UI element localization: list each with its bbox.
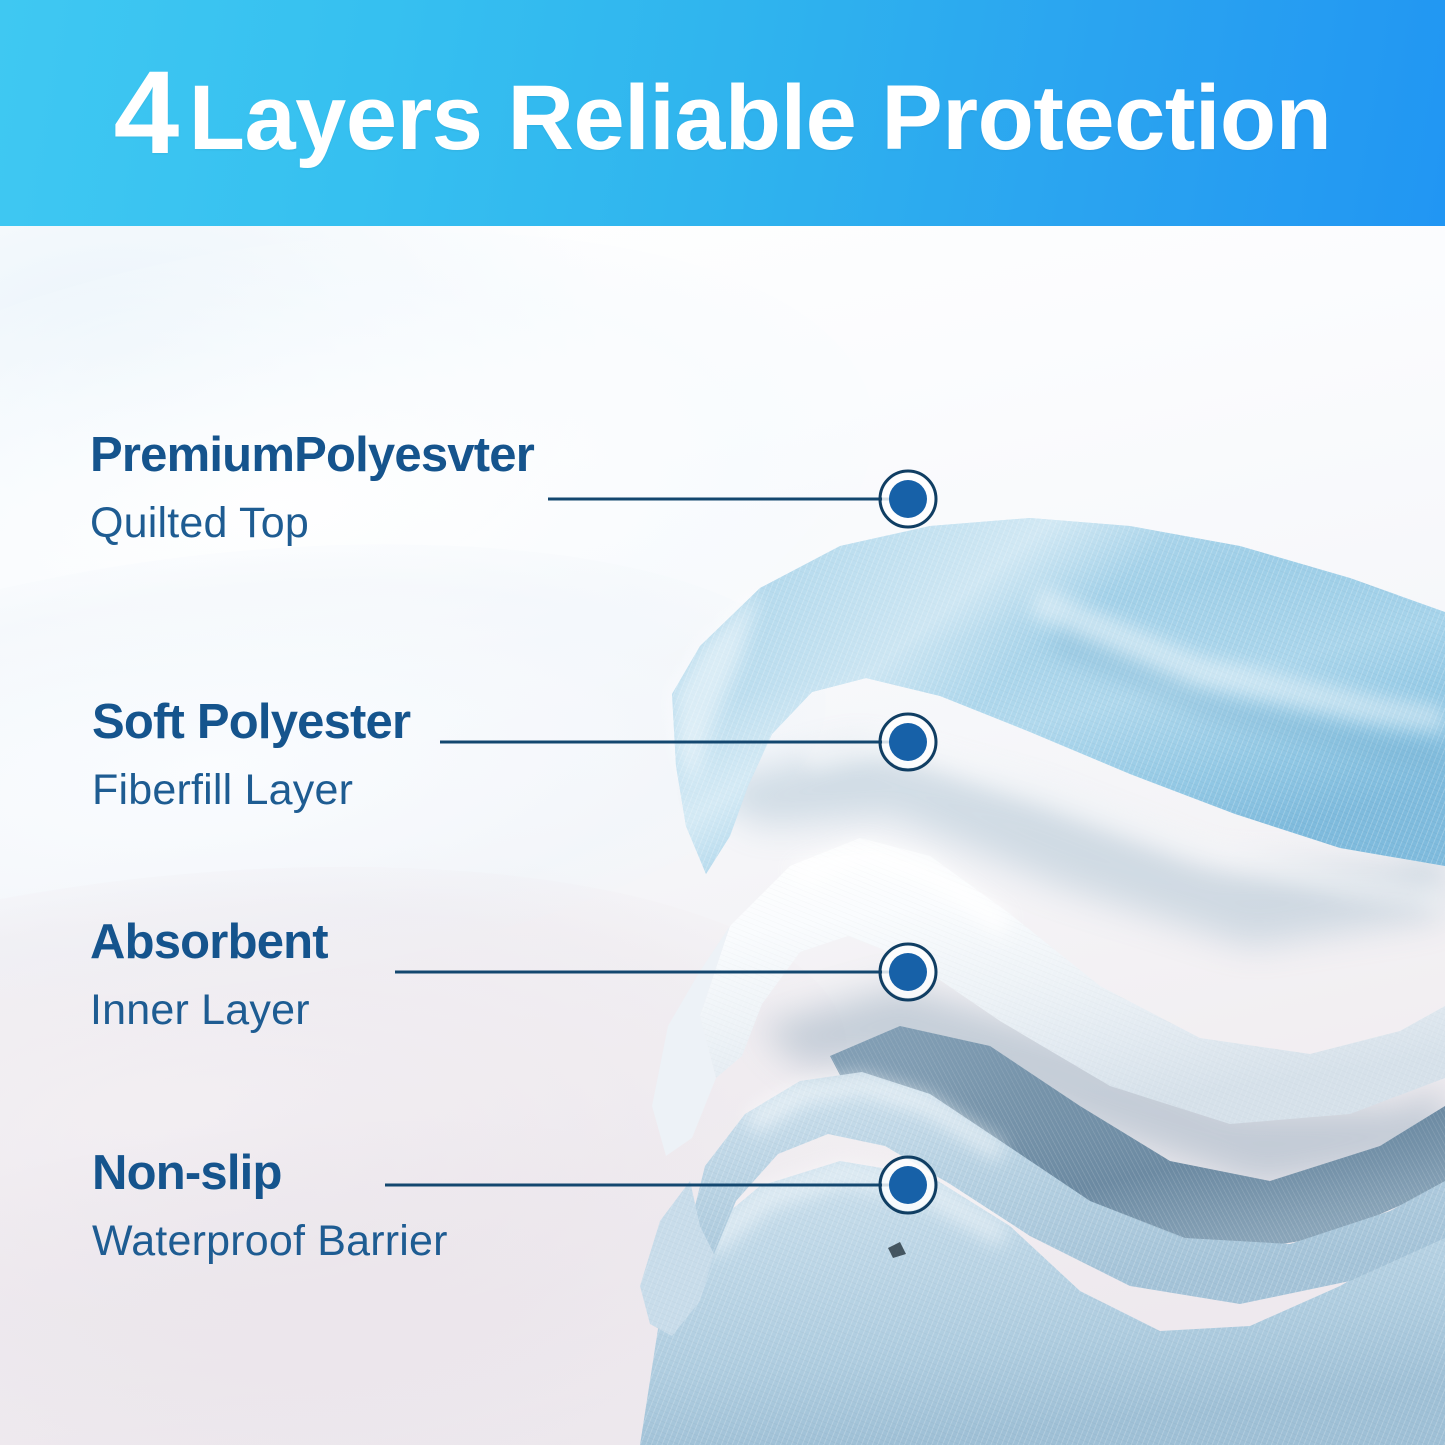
layer-count-number: 4 [114, 47, 179, 179]
page-title-text: Layers Reliable Protection [189, 67, 1332, 169]
layer-label-quilted-top: PremiumPolyesvter Quilted Top [90, 430, 534, 546]
layer-label-absorbent: Absorbent Inner Layer [90, 917, 328, 1033]
layer-subtitle: Waterproof Barrier [92, 1219, 448, 1264]
layer-label-fiberfill: Soft Polyester Fiberfill Layer [92, 697, 410, 813]
layer-subtitle: Quilted Top [90, 501, 534, 546]
layer-title: Non-slip [92, 1148, 448, 1199]
page-title: 4Layers Reliable Protection [0, 54, 1445, 172]
layer-subtitle: Fiberfill Layer [92, 768, 410, 813]
infographic-root: 4Layers Reliable Protection [0, 0, 1445, 1445]
layer-title: Absorbent [90, 917, 328, 968]
layer-label-non-slip: Non-slip Waterproof Barrier [92, 1148, 448, 1264]
header-banner: 4Layers Reliable Protection [0, 0, 1445, 226]
layer-title: Soft Polyester [92, 697, 410, 748]
layer-subtitle: Inner Layer [90, 988, 328, 1033]
layer-title: PremiumPolyesvter [90, 430, 534, 481]
